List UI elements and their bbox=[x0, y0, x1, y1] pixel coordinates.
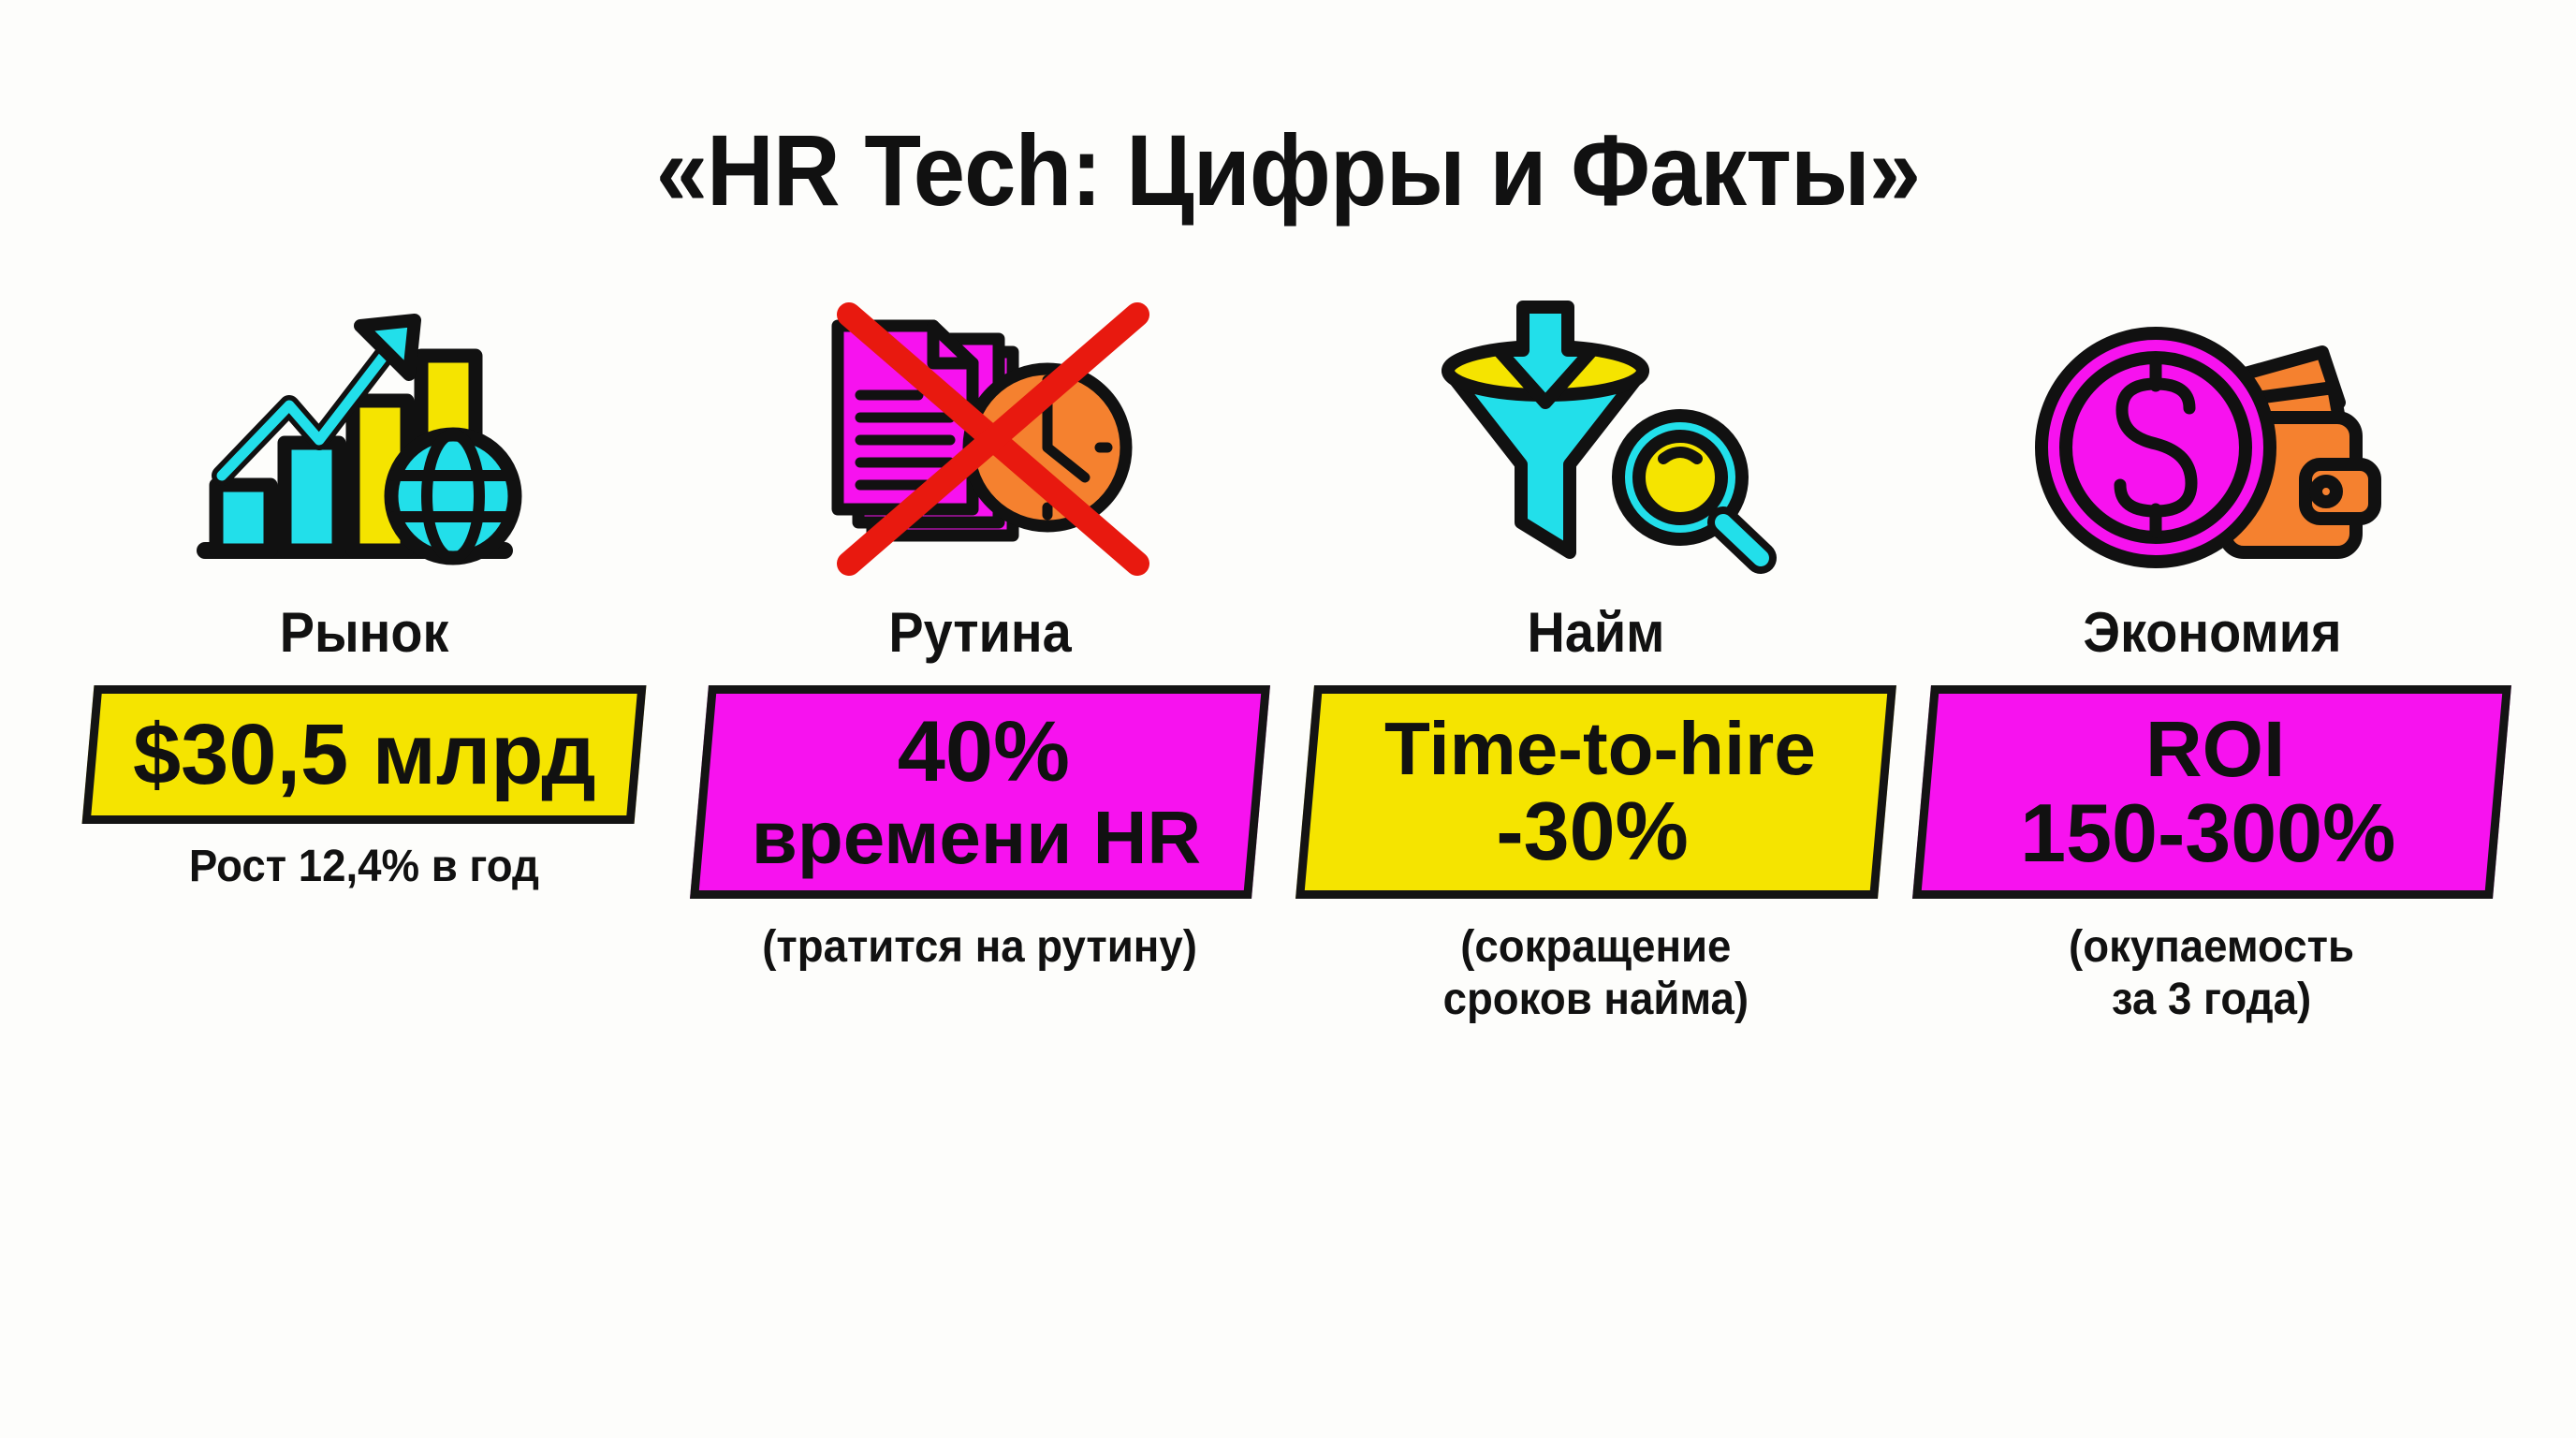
metric-column-hiring: Найм Time-to-hire -30% (сокращение сроко… bbox=[1288, 279, 1904, 1025]
column-header: Экономия bbox=[2083, 605, 2341, 661]
metric-badge-market: $30,5 млрд bbox=[82, 685, 647, 824]
growth-chart-globe-icon bbox=[56, 279, 672, 579]
metric-badge-hiring: Time-to-hire -30% bbox=[1295, 685, 1896, 899]
metric-column-market: Рынок $30,5 млрд Рост 12,4% в год bbox=[56, 279, 672, 1025]
column-header: Рынок bbox=[280, 605, 449, 661]
metric-caption: (тратится на рутину) bbox=[763, 921, 1198, 974]
badge-line: -30% bbox=[1497, 790, 1689, 873]
page-title: «HR Tech: Цифры и Факты» bbox=[656, 120, 1921, 221]
badge-line: времени HR bbox=[751, 800, 1200, 875]
metric-column-routine: Рутина 40% времени HR (тратится на рутин… bbox=[672, 279, 1288, 1025]
metric-caption: (окупаемость за 3 года) bbox=[2069, 921, 2354, 1025]
metric-badge-savings: ROI 150-300% bbox=[1912, 685, 2511, 899]
column-header: Найм bbox=[1528, 605, 1665, 661]
badge-line: 40% bbox=[898, 709, 1070, 795]
badge-line: Time-to-hire bbox=[1384, 712, 1816, 786]
badge-line: 150-300% bbox=[2021, 792, 2396, 874]
infographic-root: «HR Tech: Цифры и Факты» bbox=[0, 0, 2576, 1438]
dollar-coin-wallet-icon bbox=[1904, 279, 2520, 579]
funnel-magnifier-icon bbox=[1288, 279, 1904, 579]
metric-badge-routine: 40% времени HR bbox=[690, 685, 1270, 899]
metric-caption: Рост 12,4% в год bbox=[189, 841, 539, 893]
crossed-out-documents-clock-icon bbox=[672, 279, 1288, 579]
metric-columns: Рынок $30,5 млрд Рост 12,4% в год bbox=[0, 279, 2576, 1025]
column-header: Рутина bbox=[888, 605, 1071, 661]
metric-column-savings: Экономия ROI 150-300% (окупаемость за 3 … bbox=[1904, 279, 2520, 1025]
metric-caption: (сокращение сроков найма) bbox=[1443, 921, 1749, 1025]
badge-line: $30,5 млрд bbox=[133, 712, 596, 798]
badge-line: ROI bbox=[2145, 710, 2285, 788]
